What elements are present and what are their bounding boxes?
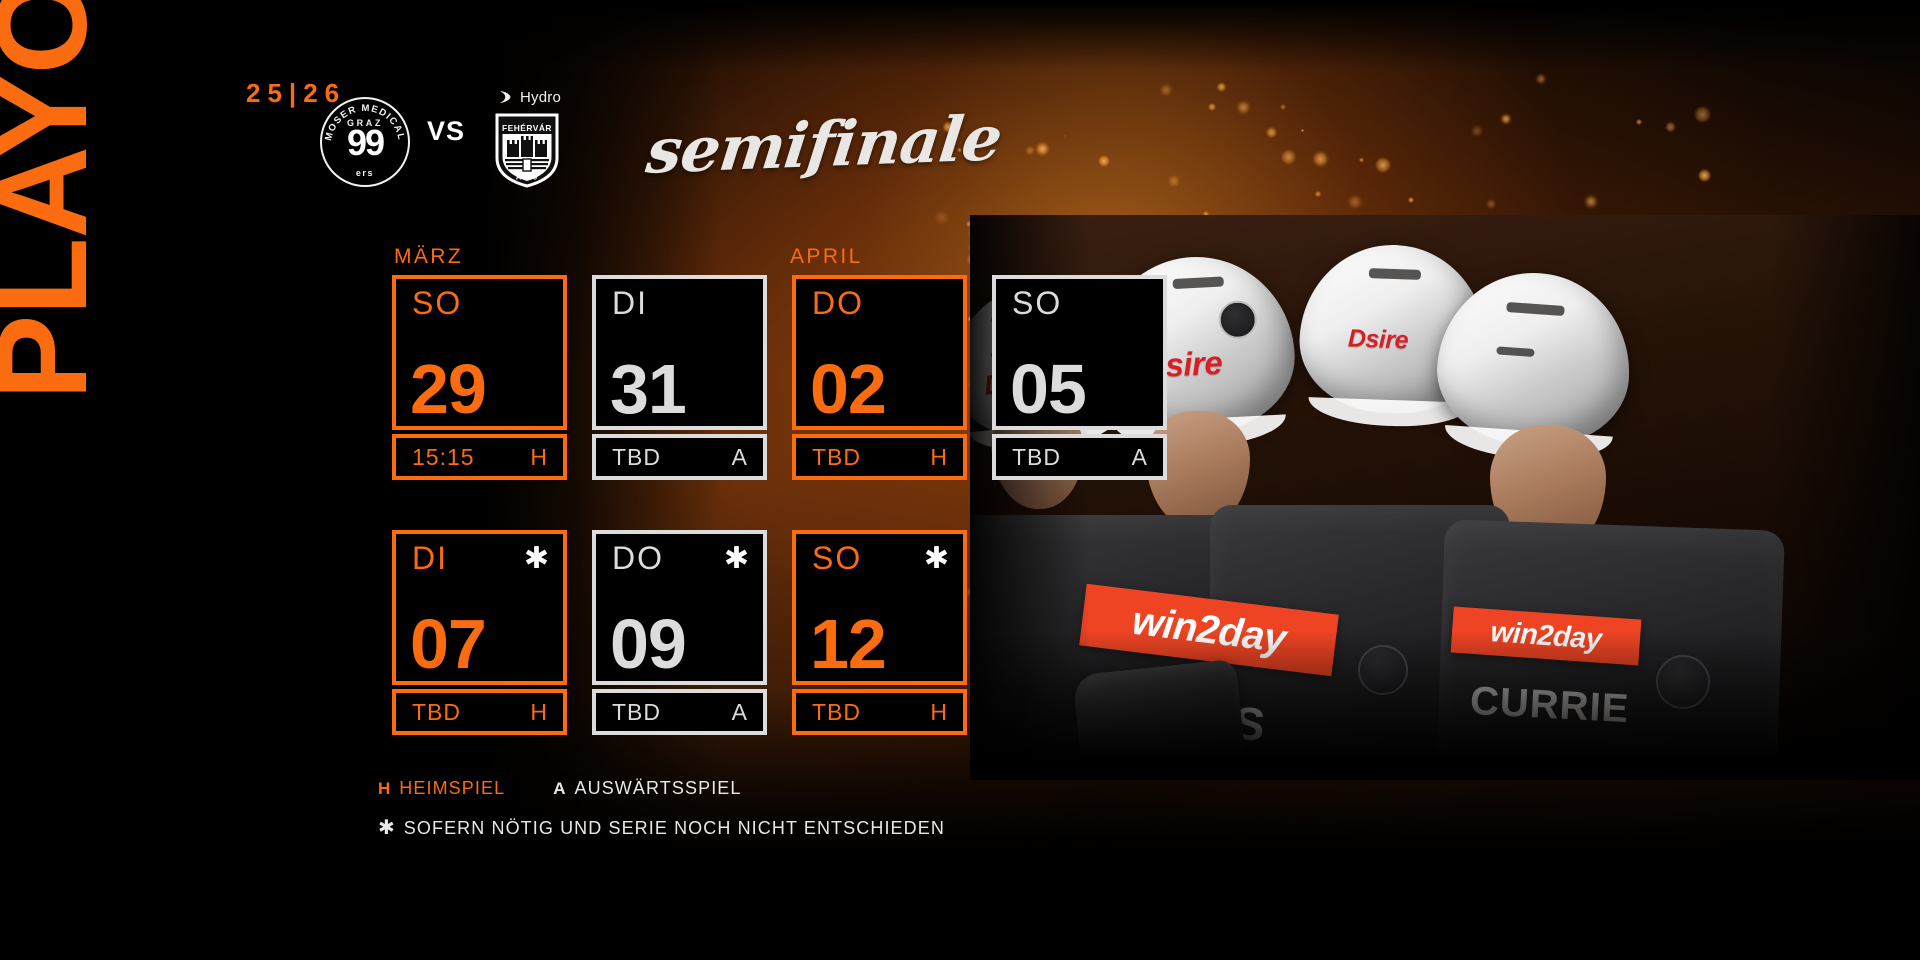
round-title: semifinale [643,101,1006,187]
game-card-body: SO ✱ 12 [792,530,967,685]
game-time: TBD [412,699,461,726]
game-venue: H [530,699,547,726]
game-time: TBD [812,699,861,726]
game-day: 02 [810,354,886,424]
game-weekday: DO [812,287,864,319]
game-card-footer: TBD H [792,689,967,735]
hydro-label: Hydro [520,89,561,106]
game-card-body: SO 29 [392,275,567,430]
game-card-body: SO 05 [992,275,1167,430]
game-card-footer: TBD A [992,434,1167,480]
game-venue: H [930,699,947,726]
game-card-footer: TBD A [592,434,767,480]
game-asterisk: ✱ [724,544,749,574]
game-card[interactable]: DO 02 TBD H [792,275,967,480]
legend-asterisk-icon: ✱ [378,818,395,838]
game-card-footer: TBD H [792,434,967,480]
month-label-april: APRIL [790,245,863,269]
game-card-footer: 15:15 H [392,434,567,480]
game-venue: H [930,444,947,471]
playoff-schedule-graphic: Dsire Dsire Dsire win2day win2day [0,0,1920,960]
game-venue: A [1132,444,1147,471]
game-card[interactable]: DI 31 TBD A [592,275,767,480]
game-time: 15:15 [412,444,475,471]
helmet-sponsor-text-3: Dsire [1347,324,1408,355]
game-day: 07 [410,609,486,679]
game-asterisk: ✱ [524,544,549,574]
game-time: TBD [812,444,861,471]
game-card[interactable]: DI ✱ 07 TBD H [392,530,567,735]
hydro-sponsor-logo: Hydro [497,88,561,106]
game-venue: H [530,444,547,471]
game-weekday: SO [1012,287,1062,319]
legend-home-key: H [378,779,390,799]
game-time: TBD [612,699,661,726]
game-weekday: DI [412,542,448,574]
game-day: 05 [1010,354,1086,424]
game-day: 09 [610,609,686,679]
game-card[interactable]: SO 05 TBD A [992,275,1167,480]
page-title: PLAYOFFS [0,0,102,400]
game-card-body: DO ✱ 09 [592,530,767,685]
game-card-body: DI 31 [592,275,767,430]
legend-row-venues: H HEIMSPIEL A AUSWÄRTSSPIEL [378,778,742,799]
game-card[interactable]: DO ✱ 09 TBD A [592,530,767,735]
logo-suffix: ers [322,168,408,178]
legend-away-text: AUSWÄRTSSPIEL [575,778,742,799]
photo-bottom-fade [970,630,1920,780]
game-weekday: DO [612,542,664,574]
crest-name: FEHÉRVÁR [502,122,552,133]
graz99ers-logo: MOSER MEDICAL GRAZ 99 ers [320,97,410,187]
background-top-fade [480,0,1920,70]
game-card-body: DO 02 [792,275,967,430]
game-weekday: SO [412,287,462,319]
logo-number: 99 [322,125,408,161]
month-label-maerz: MÄRZ [394,245,463,269]
game-card-footer: TBD A [592,689,767,735]
fehervar-crest: FEHÉRVÁR AV19 [494,112,560,188]
legend-asterisk-text: SOFERN NÖTIG UND SERIE NOCH NICHT ENTSCH… [404,818,945,839]
game-venue: A [732,699,747,726]
game-day: 29 [410,354,486,424]
game-time: TBD [1012,444,1061,471]
game-card-footer: TBD H [392,689,567,735]
game-day: 12 [810,609,886,679]
versus-label: VS [427,116,465,147]
game-card-body: DI ✱ 07 [392,530,567,685]
game-card[interactable]: SO ✱ 12 TBD H [792,530,967,735]
game-weekday: DI [612,287,648,319]
game-asterisk: ✱ [924,544,949,574]
game-time: TBD [612,444,661,471]
legend-away-key: A [553,779,565,799]
crest-club-code: AV19 [516,172,538,181]
legend-row-asterisk: ✱ SOFERN NÖTIG UND SERIE NOCH NICHT ENTS… [378,818,945,839]
hydro-icon [497,88,515,106]
legend-home-text: HEIMSPIEL [399,778,505,799]
game-weekday: SO [812,542,862,574]
game-day: 31 [610,354,686,424]
game-venue: A [732,444,747,471]
game-card[interactable]: SO 29 15:15 H [392,275,567,480]
